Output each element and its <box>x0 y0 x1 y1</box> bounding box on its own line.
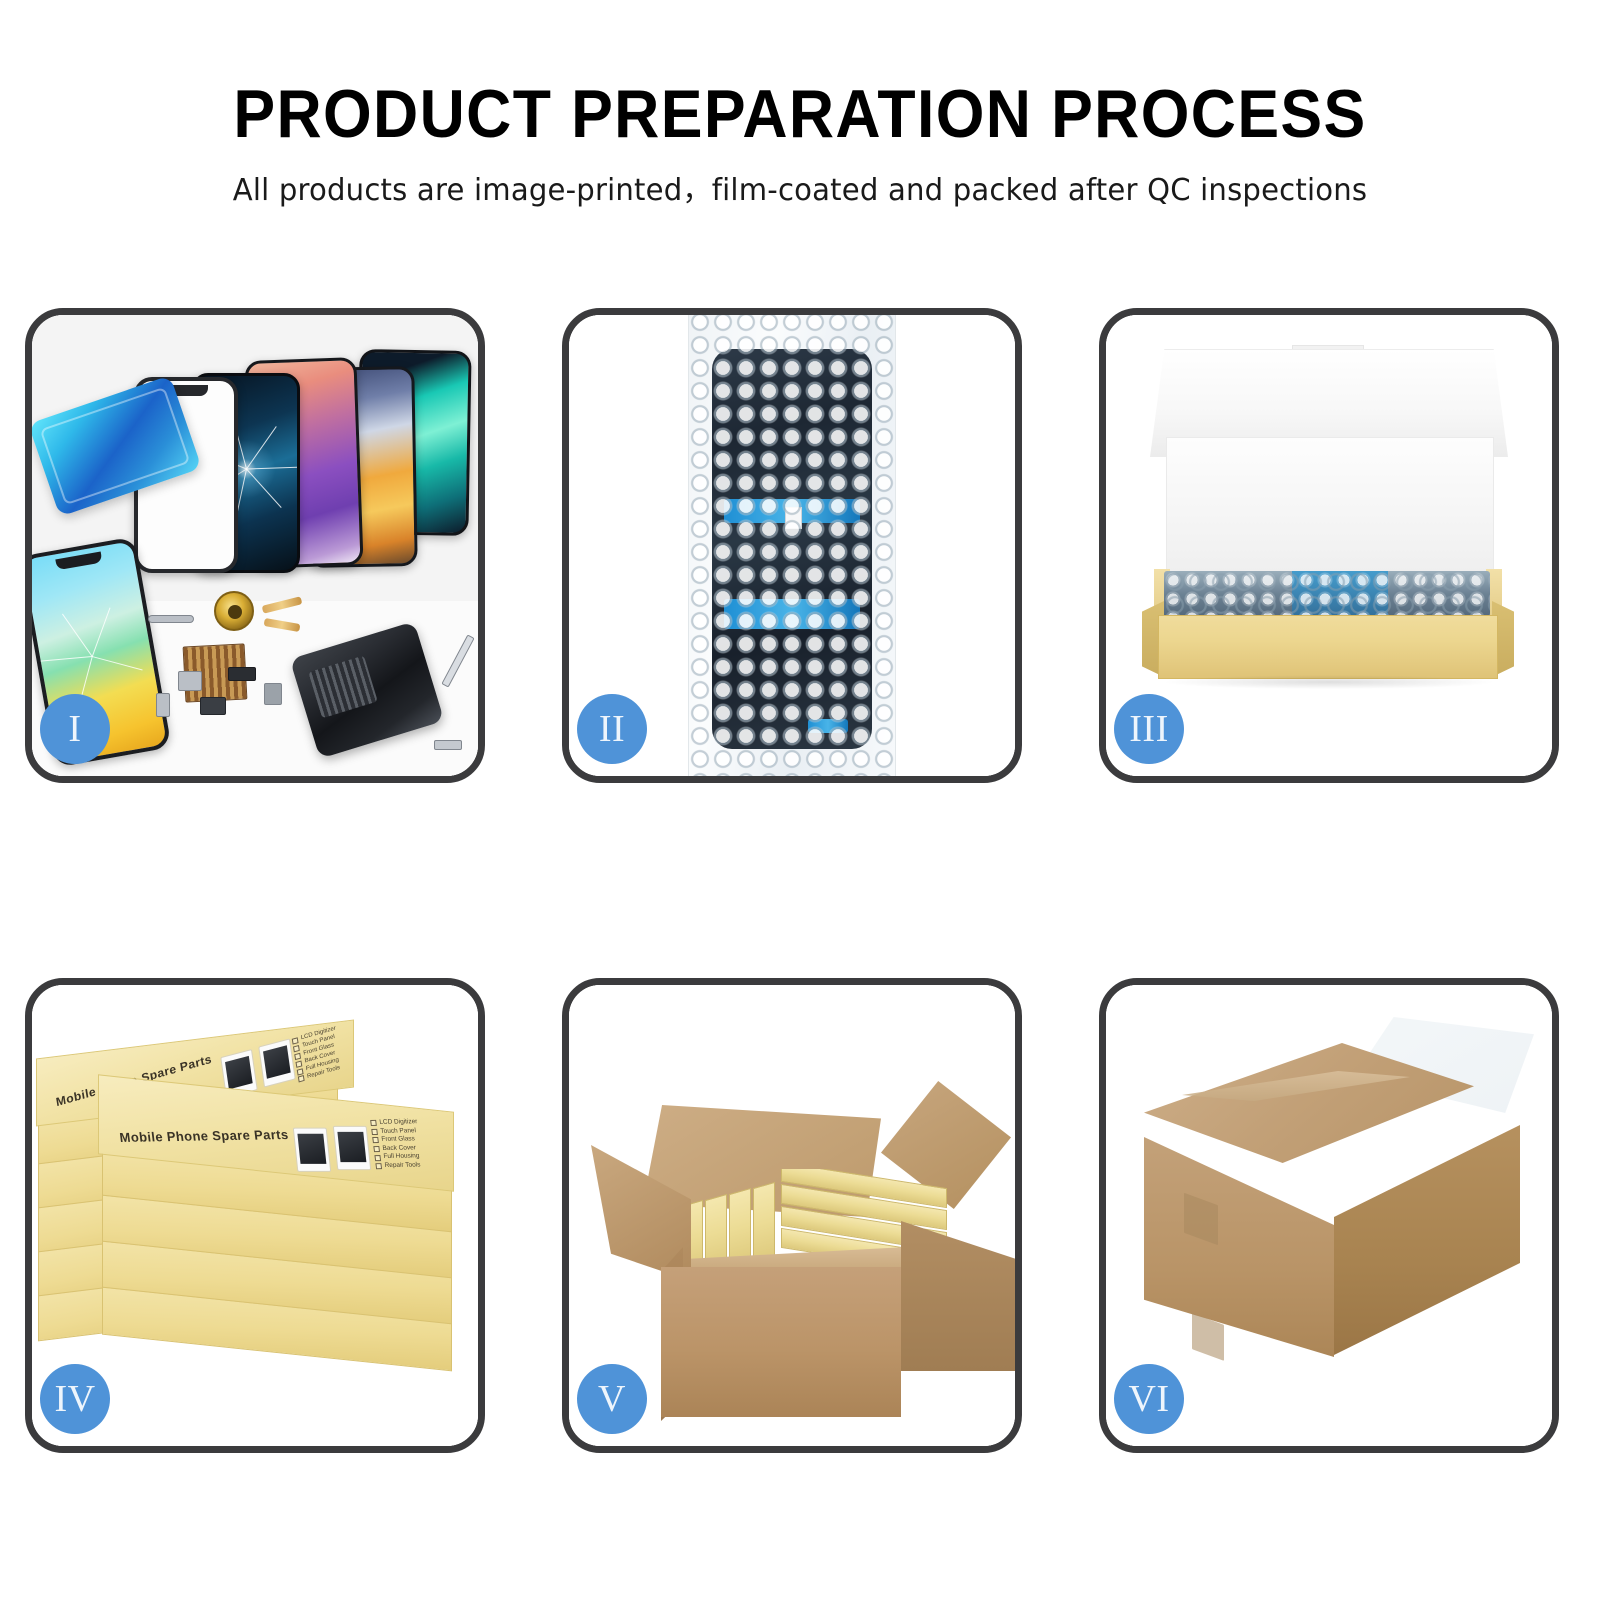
page-title: PRODUCT PREPARATION PROCESS <box>64 78 1536 151</box>
retail-box-checklist-rear: LCD Digitizer Touch Panel Front Glass Ba… <box>292 1026 343 1084</box>
process-step-5: V <box>562 978 1022 1453</box>
bubble-wrap-bag-icon <box>688 315 896 776</box>
retail-box-screen-thumb-c <box>293 1128 331 1172</box>
step-badge-1: I <box>40 694 110 764</box>
earpiece-mesh-icon <box>148 615 194 623</box>
battery-connector-icon <box>228 667 256 681</box>
process-step-2: II <box>562 308 1022 783</box>
process-step-1: I <box>25 308 485 783</box>
packed-retail-box <box>753 1182 775 1266</box>
step-badge-6: VI <box>1114 1364 1184 1434</box>
screw-set-icon <box>434 740 462 750</box>
wireless-charge-coil-icon <box>214 591 254 631</box>
checklist-item: Repair Tools <box>384 1161 421 1170</box>
bubble-texture <box>689 315 895 776</box>
retail-box-brand-label-front: Mobile Phone Spare Parts <box>119 1127 290 1145</box>
retail-box-screen-thumb-d <box>333 1126 371 1170</box>
page-subtitle: All products are image-printed，film-coat… <box>24 165 1576 209</box>
vibrator-motor-icon <box>264 683 282 705</box>
process-step-3: III <box>1099 308 1559 783</box>
drop-shadow <box>1166 675 1492 689</box>
carton-front-face-icon <box>661 1267 901 1417</box>
step-badge-2: II <box>577 694 647 764</box>
mailer-box-front-icon <box>1158 615 1498 679</box>
camera-module-icon <box>178 671 202 691</box>
product-preparation-infographic: PRODUCT PREPARATION PROCESS All products… <box>0 0 1600 1600</box>
sim-tray-icon <box>156 693 170 717</box>
retail-box-screen-thumb-b <box>258 1038 296 1087</box>
speaker-module-icon <box>200 697 226 715</box>
step-badge-5: V <box>577 1364 647 1434</box>
header: PRODUCT PREPARATION PROCESS All products… <box>0 78 1600 209</box>
step-badge-3: III <box>1114 694 1184 764</box>
process-step-6: VI <box>1099 978 1559 1453</box>
process-step-4: Mobile Phone Spare Parts LCD Digitizer T… <box>25 978 485 1453</box>
retail-box-checklist-front: LCD Digitizer Touch Panel Front Glass Ba… <box>370 1118 423 1171</box>
foam-insert-icon <box>1166 437 1494 573</box>
process-step-grid: I II <box>25 308 1560 1453</box>
step-badge-4: IV <box>40 1364 110 1434</box>
